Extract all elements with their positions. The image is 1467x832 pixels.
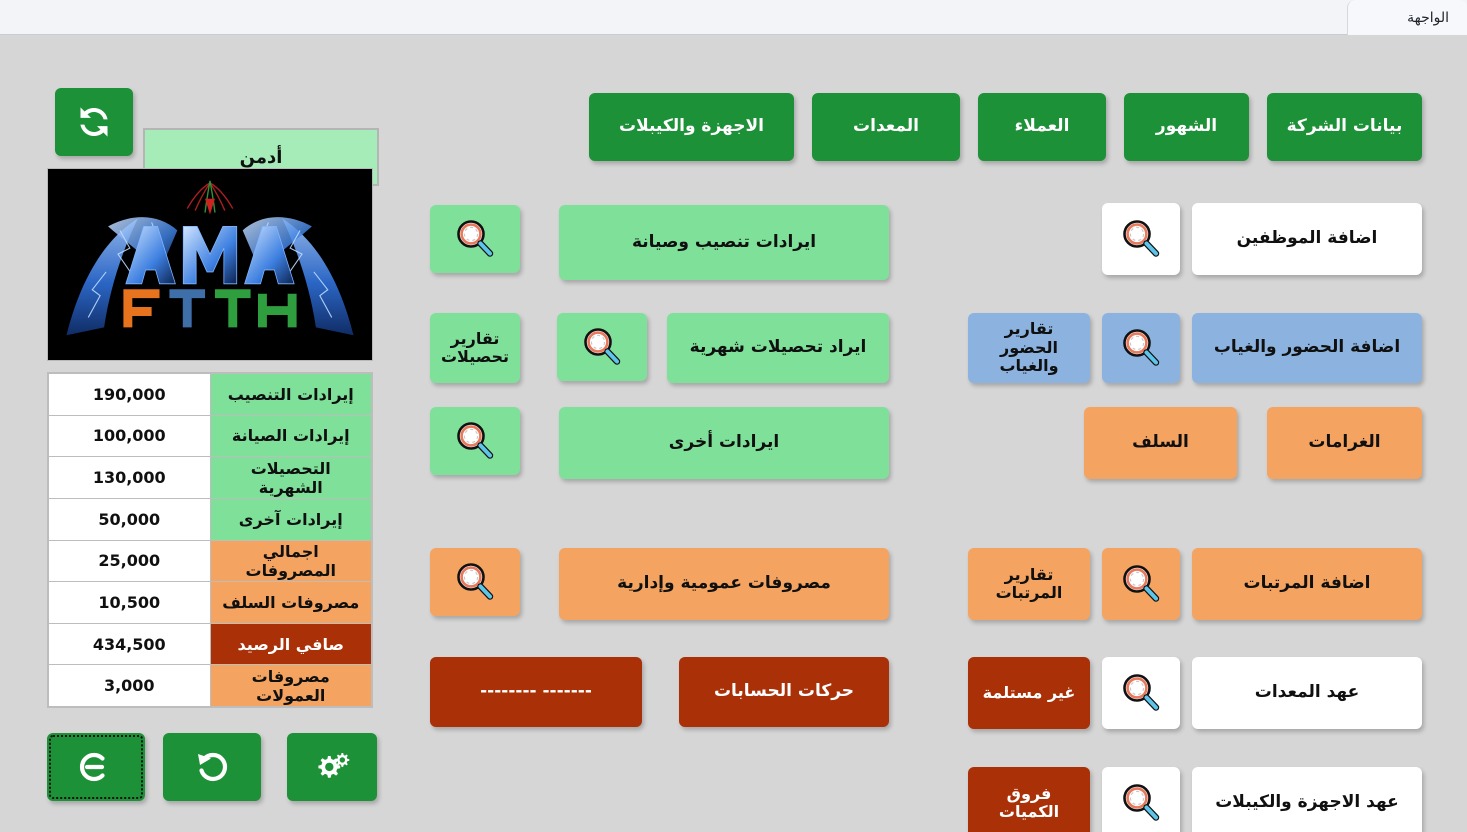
add-salaries-search[interactable]: [1102, 548, 1180, 620]
logo-artwork: [48, 169, 372, 360]
general-admin-expenses-search[interactable]: [430, 548, 520, 616]
collections-reports-button[interactable]: تقارير تحصيلات: [430, 313, 520, 383]
nav-clients[interactable]: العملاء: [978, 93, 1106, 161]
button-label: اضافة الموظفين: [1237, 229, 1378, 249]
summary-value: 3,000: [49, 665, 211, 707]
summary-label: صافي الرصيد: [210, 623, 372, 665]
button-label: ايراد تحصيلات شهرية: [690, 338, 867, 358]
account-movements-button[interactable]: حركات الحسابات: [679, 657, 889, 727]
button-label: مصروفات عمومية وإدارية: [617, 574, 831, 594]
search-icon: [1118, 670, 1164, 716]
nav-label: بيانات الشركة: [1287, 117, 1403, 137]
equipment-not-received-button[interactable]: غير مستلمة: [968, 657, 1090, 729]
summary-label: مصروفات العمولات: [210, 665, 372, 707]
company-logo: [47, 168, 373, 361]
search-icon: [1118, 561, 1164, 607]
summary-value: 10,500: [49, 582, 211, 624]
search-icon: [579, 324, 625, 370]
add-attendance-button[interactable]: اضافة الحضور والغياب: [1192, 313, 1422, 383]
button-label: ايرادات تنصيب وصيانة: [632, 233, 816, 253]
revenue-other-button[interactable]: ايرادات أخرى: [559, 407, 889, 479]
button-label: حركات الحسابات: [714, 682, 854, 702]
button-label: تقارير الحضور والغياب: [974, 320, 1084, 375]
revenue-other-search[interactable]: [430, 407, 520, 475]
search-icon: [452, 559, 498, 605]
search-icon: [1118, 325, 1164, 371]
revenue-install-maintenance-button[interactable]: ايرادات تنصيب وصيانة: [559, 205, 889, 280]
button-label: فروق الكميات: [974, 785, 1084, 822]
general-admin-expenses-button[interactable]: مصروفات عمومية وإدارية: [559, 548, 889, 620]
revenue-monthly-collections-search[interactable]: [557, 313, 647, 381]
add-employees-button[interactable]: اضافة الموظفين: [1192, 203, 1422, 275]
nav-label: الاجهزة والكيبلات: [619, 117, 764, 137]
devices-custody-button[interactable]: عهد الاجهزة والكيبلات: [1192, 767, 1422, 832]
summary-value: 100,000: [49, 415, 211, 457]
workspace: أدمن: [0, 35, 1467, 832]
search-icon: [452, 418, 498, 464]
button-label: ايرادات أخرى: [669, 433, 779, 453]
summary-value: 434,500: [49, 623, 211, 665]
summary-label: إيرادات التنصيب: [210, 374, 372, 416]
search-icon: [452, 216, 498, 262]
nav-months[interactable]: الشهور: [1124, 93, 1249, 161]
table-row: اجمالي المصروفات 25,000: [49, 540, 372, 582]
nav-label: العملاء: [1015, 117, 1070, 137]
undo-restore-icon: [191, 746, 233, 788]
summary-value: 130,000: [49, 457, 211, 499]
power-logout-icon: [75, 746, 117, 788]
summary-label: التحصيلات الشهرية: [210, 457, 372, 499]
button-label: عهد المعدات: [1255, 683, 1360, 703]
button-label: عهد الاجهزة والكيبلات: [1215, 793, 1399, 813]
table-row: إيرادات الصيانة 100,000: [49, 415, 372, 457]
button-label: السلف: [1132, 433, 1189, 453]
summary-table-body: إيرادات التنصيب 190,000 إيرادات الصيانة …: [49, 374, 372, 707]
refresh-icon: [74, 102, 114, 142]
equipment-custody-search[interactable]: [1102, 657, 1180, 729]
tab-strip: الواجهة: [0, 0, 1467, 35]
table-row: مصروفات العمولات 3,000: [49, 665, 372, 707]
logout-button[interactable]: [47, 733, 145, 801]
fines-button[interactable]: الغرامات: [1267, 407, 1422, 479]
summary-label: اجمالي المصروفات: [210, 540, 372, 582]
search-icon: [1118, 216, 1164, 262]
refresh-button[interactable]: [55, 88, 133, 156]
table-row: صافي الرصيد 434,500: [49, 623, 372, 665]
button-label: الغرامات: [1308, 433, 1380, 453]
button-label: ------- --------: [480, 682, 592, 702]
app-window: الواجهة أدمن: [0, 0, 1467, 832]
add-salaries-button[interactable]: اضافة المرتبات: [1192, 548, 1422, 620]
financial-summary-table: إيرادات التنصيب 190,000 إيرادات الصيانة …: [47, 372, 373, 708]
settings-button[interactable]: [287, 733, 377, 801]
add-attendance-search[interactable]: [1102, 313, 1180, 383]
nav-devices-cables[interactable]: الاجهزة والكيبلات: [589, 93, 794, 161]
nav-company-data[interactable]: بيانات الشركة: [1267, 93, 1422, 161]
button-label: تقارير تحصيلات: [441, 330, 509, 367]
summary-value: 50,000: [49, 498, 211, 540]
accounts-placeholder-button[interactable]: ------- --------: [430, 657, 642, 727]
tab-interface[interactable]: الواجهة: [1347, 0, 1467, 35]
add-employees-search[interactable]: [1102, 203, 1180, 275]
summary-table: إيرادات التنصيب 190,000 إيرادات الصيانة …: [48, 373, 372, 707]
advances-button[interactable]: السلف: [1084, 407, 1237, 479]
search-icon: [1118, 780, 1164, 826]
tab-label: الواجهة: [1407, 10, 1449, 26]
button-label: اضافة المرتبات: [1244, 574, 1371, 594]
devices-custody-search[interactable]: [1102, 767, 1180, 832]
summary-label: مصروفات السلف: [210, 582, 372, 624]
nav-equipment[interactable]: المعدات: [812, 93, 960, 161]
restore-button[interactable]: [163, 733, 261, 801]
summary-label: إيرادات آخرى: [210, 498, 372, 540]
button-label: غير مستلمة: [983, 684, 1076, 702]
table-row: مصروفات السلف 10,500: [49, 582, 372, 624]
quantity-differences-button[interactable]: فروق الكميات: [968, 767, 1090, 832]
revenue-install-maintenance-search[interactable]: [430, 205, 520, 273]
user-name-value: أدمن: [240, 147, 283, 168]
table-row: التحصيلات الشهرية 130,000: [49, 457, 372, 499]
summary-label: إيرادات الصيانة: [210, 415, 372, 457]
salary-reports-button[interactable]: تقارير المرتبات: [968, 548, 1090, 620]
table-row: إيرادات آخرى 50,000: [49, 498, 372, 540]
nav-label: الشهور: [1156, 117, 1217, 137]
table-row: إيرادات التنصيب 190,000: [49, 374, 372, 416]
summary-value: 190,000: [49, 374, 211, 416]
revenue-monthly-collections-button[interactable]: ايراد تحصيلات شهرية: [667, 313, 889, 383]
equipment-custody-button[interactable]: عهد المعدات: [1192, 657, 1422, 729]
button-label: اضافة الحضور والغياب: [1214, 338, 1400, 358]
summary-value: 25,000: [49, 540, 211, 582]
gears-settings-icon: [311, 746, 353, 788]
button-label: تقارير المرتبات: [974, 566, 1084, 603]
attendance-reports-button[interactable]: تقارير الحضور والغياب: [968, 313, 1090, 383]
nav-label: المعدات: [853, 117, 919, 137]
